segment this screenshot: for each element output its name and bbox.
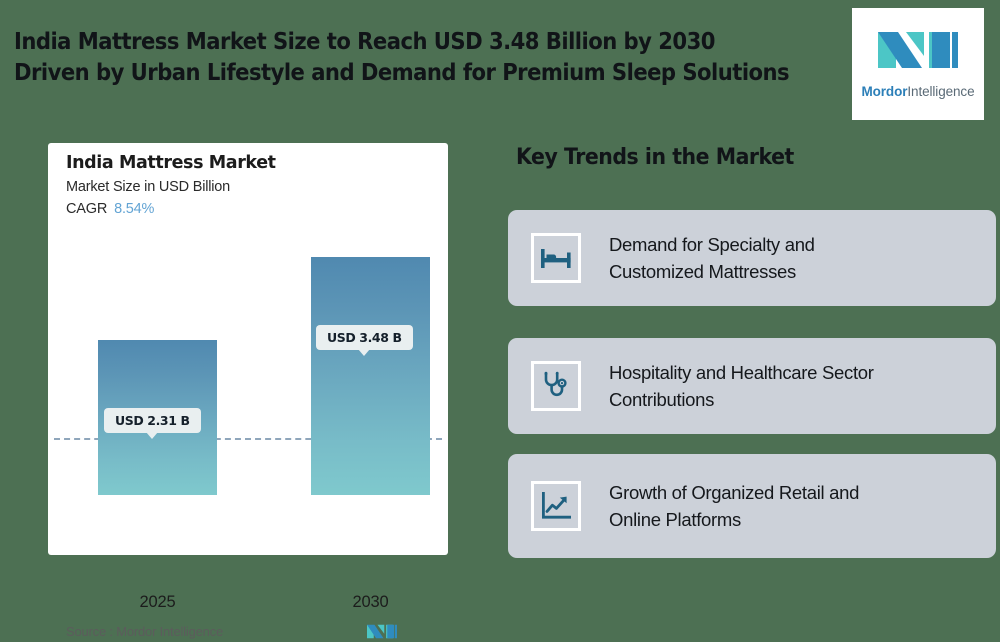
stethoscope-icon-box [531, 361, 581, 411]
trend-text-line-1: Hospitality and Healthcare Sector [609, 359, 874, 386]
brand-logo-wordmark: MordorIntelligence [852, 84, 984, 99]
bar-value-label-2025: USD 2.31 B [104, 408, 201, 433]
page-header: India Mattress Market Size to Reach USD … [0, 0, 1000, 128]
trend-text-line-2: Customized Mattresses [609, 258, 815, 285]
page-title-line-1: India Mattress Market Size to Reach USD … [14, 26, 761, 57]
chart-source-text: Source : Mordor Intelligence [66, 624, 223, 639]
bed-icon [540, 246, 572, 270]
x-axis-tick-2030: 2030 [311, 593, 430, 612]
brand-name-light: Intelligence [907, 84, 974, 99]
bed-icon-box [531, 233, 581, 283]
trend-card-text: Growth of Organized Retail and Online Pl… [609, 479, 859, 533]
bar-2030 [311, 257, 430, 495]
brand-logo-card: MordorIntelligence [852, 8, 984, 120]
trend-card-text: Hospitality and Healthcare Sector Contri… [609, 359, 874, 413]
mordor-m-logo-icon [876, 22, 960, 78]
trend-card-organized-retail[interactable]: Growth of Organized Retail and Online Pl… [508, 454, 996, 558]
trend-text-line-1: Demand for Specialty and [609, 231, 815, 258]
cagr-value: 8.54% [114, 201, 154, 217]
trend-text-line-1: Growth of Organized Retail and [609, 479, 859, 506]
brand-name-bold: Mordor [861, 84, 907, 99]
chart-card: India Mattress Market Market Size in USD… [48, 143, 448, 555]
growth-chart-icon [541, 492, 571, 520]
chart-title: India Mattress Market [66, 153, 276, 173]
trend-text-line-2: Contributions [609, 386, 874, 413]
cagr-label: CAGR [66, 201, 107, 217]
growth-chart-icon-box [531, 481, 581, 531]
mordor-m-logo-icon [366, 621, 398, 642]
trend-card-hospitality-healthcare[interactable]: Hospitality and Healthcare Sector Contri… [508, 338, 996, 434]
key-trends-heading: Key Trends in the Market [516, 145, 794, 170]
bar-chart-plot-area: USD 2.31 B USD 3.48 B 2025 2030 Source :… [48, 235, 448, 495]
trend-card-specialty-mattresses[interactable]: Demand for Specialty and Customized Matt… [508, 210, 996, 306]
x-axis-tick-2025: 2025 [98, 593, 217, 612]
trend-card-text: Demand for Specialty and Customized Matt… [609, 231, 815, 285]
chart-subtitle: Market Size in USD Billion [66, 179, 230, 195]
page-title-line-2: Driven by Urban Lifestyle and Demand for… [14, 57, 761, 88]
page-title: India Mattress Market Size to Reach USD … [14, 26, 761, 88]
stethoscope-icon [541, 371, 571, 401]
trend-text-line-2: Online Platforms [609, 506, 859, 533]
cagr-row: CAGR8.54% [66, 201, 154, 217]
bar-value-label-2030: USD 3.48 B [316, 325, 413, 350]
